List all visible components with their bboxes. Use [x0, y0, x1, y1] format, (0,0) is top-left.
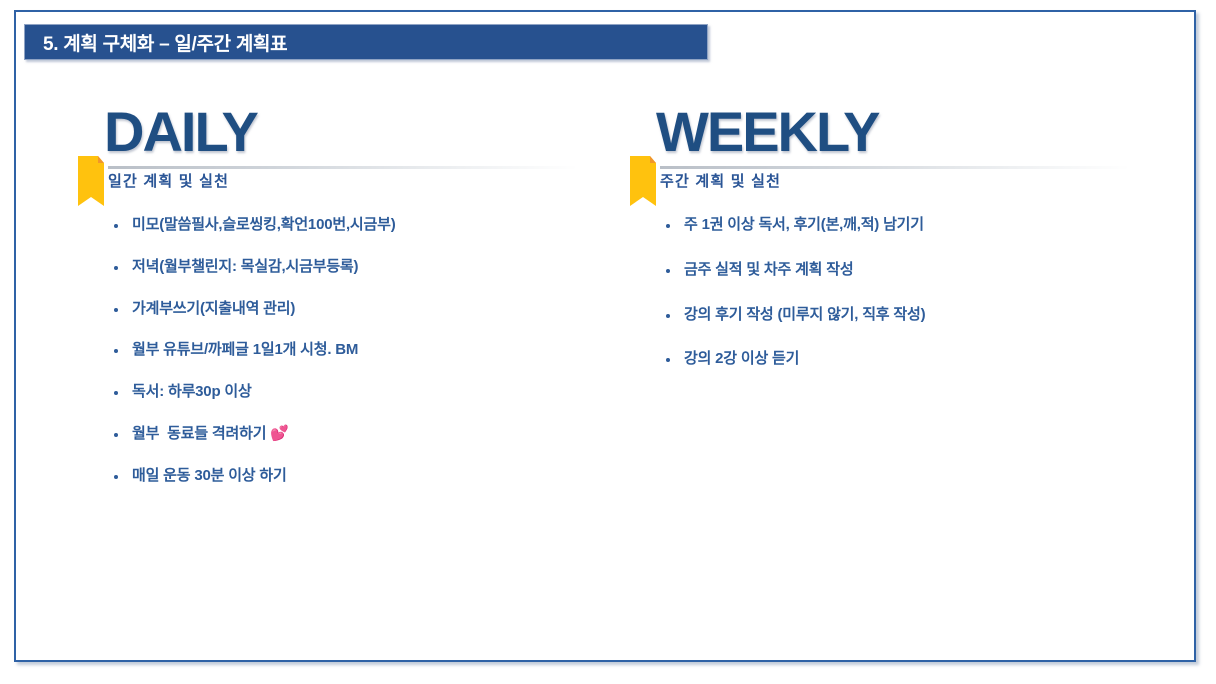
slide-title-bar: 5. 계획 구체화 – 일/주간 계획표 — [24, 24, 708, 60]
list-item: 월부 동료들 격려하기 💕 — [110, 425, 580, 444]
list-item: 강의 후기 작성 (미루지 않기, 직후 작성) — [662, 306, 1132, 325]
list-item: 독서: 하루30p 이상 — [110, 383, 580, 402]
daily-task-list: 미모(말씀필사,슬로씽킹,확언100번,시금부) 저녁(월부챌린지: 목실감,시… — [110, 216, 580, 508]
section-daily: DAILY 일간 계획 및 실천 미모(말씀필사,슬로씽킹,확언100번,시금부… — [60, 104, 580, 194]
heading-rule-weekly — [660, 166, 1130, 169]
section-daily-header: DAILY 일간 계획 및 실천 — [60, 104, 580, 194]
list-item: 가계부쓰기(지출내역 관리) — [110, 300, 580, 319]
list-item: 저녁(월부챌린지: 목실감,시금부등록) — [110, 258, 580, 277]
bookmark-ribbon-icon — [630, 156, 656, 206]
page-title: 5. 계획 구체화 – 일/주간 계획표 — [25, 29, 287, 56]
list-item: 강의 2강 이상 듣기 — [662, 350, 1132, 369]
list-item: 월부 유튜브/까페글 1일1개 시청. BM — [110, 341, 580, 360]
list-item: 매일 운동 30분 이상 하기 — [110, 467, 580, 486]
slide-canvas: 5. 계획 구체화 – 일/주간 계획표 DAILY 일간 계획 및 실천 미모… — [14, 10, 1196, 662]
section-weekly-subtitle: 주간 계획 및 실천 — [660, 170, 781, 191]
list-item: 미모(말씀필사,슬로씽킹,확언100번,시금부) — [110, 216, 580, 235]
heading-rule-daily — [108, 166, 578, 169]
weekly-task-list: 주 1권 이상 독서, 후기(본,깨,적) 남기기 금주 실적 및 차주 계획 … — [662, 216, 1132, 395]
list-item: 금주 실적 및 차주 계획 작성 — [662, 261, 1132, 280]
section-weekly: WEEKLY 주간 계획 및 실천 주 1권 이상 독서, 후기(본,깨,적) … — [612, 104, 1132, 194]
bookmark-ribbon-icon — [78, 156, 104, 206]
section-weekly-heading: WEEKLY — [656, 104, 878, 160]
list-item: 주 1권 이상 독서, 후기(본,깨,적) 남기기 — [662, 216, 1132, 235]
section-daily-subtitle: 일간 계획 및 실천 — [108, 170, 229, 191]
section-daily-heading: DAILY — [104, 104, 257, 160]
section-weekly-header: WEEKLY 주간 계획 및 실천 — [612, 104, 1132, 194]
